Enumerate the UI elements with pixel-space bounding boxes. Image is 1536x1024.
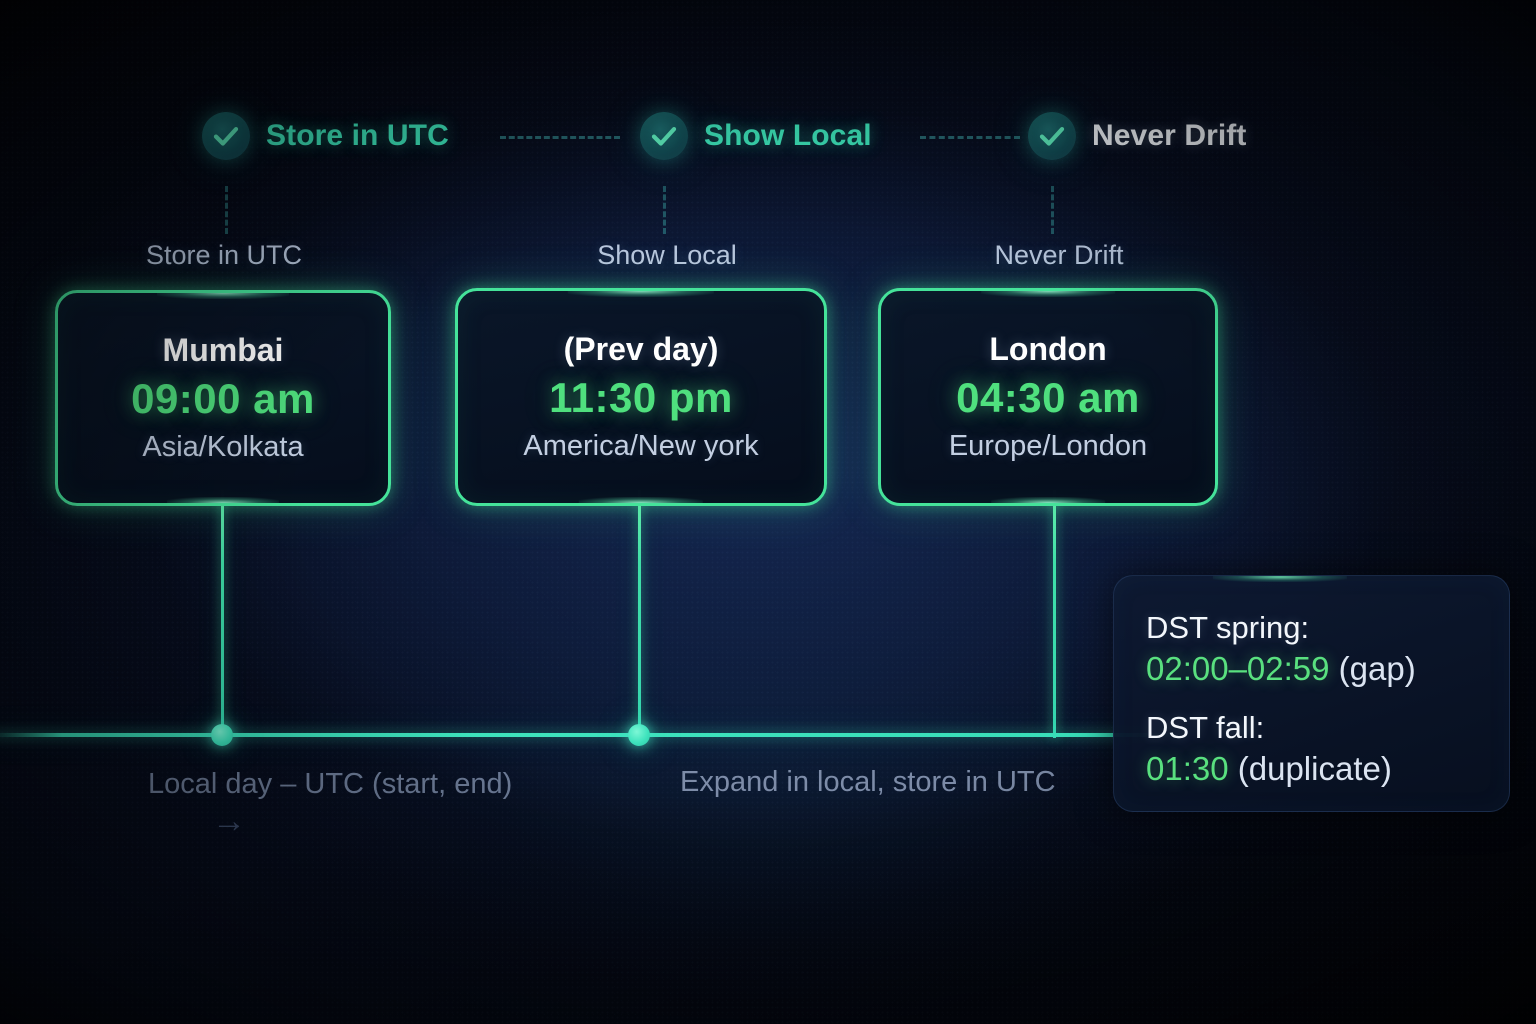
card-time: 09:00 am	[131, 375, 315, 423]
card-city: Mumbai	[163, 332, 284, 369]
sub-label-never-drift: Never Drift	[994, 240, 1123, 271]
dst-fall-note: (duplicate)	[1229, 750, 1392, 787]
dst-spring-range: 02:00–02:59	[1146, 650, 1330, 687]
timezone-card-new-york[interactable]: (Prev day) 11:30 pm America/New york	[455, 288, 827, 506]
card-timezone: Europe/London	[949, 430, 1147, 463]
step-store-in-utc[interactable]: Store in UTC	[202, 112, 449, 160]
step-connector-1-2	[500, 136, 620, 139]
step-drop-2	[663, 186, 666, 234]
timeline-drop-1	[221, 490, 224, 738]
timezone-card-london[interactable]: London 04:30 am Europe/London	[878, 288, 1218, 506]
timeline-drop-3	[1053, 490, 1056, 738]
step-connector-2-3	[920, 136, 1020, 139]
timeline-axis	[0, 733, 1190, 737]
dst-spring-title: DST spring:	[1146, 610, 1477, 646]
check-icon	[640, 112, 688, 160]
card-time: 11:30 pm	[549, 374, 733, 422]
check-icon	[1028, 112, 1076, 160]
card-timezone: America/New york	[523, 430, 758, 463]
timeline-drop-2	[638, 490, 641, 738]
dst-fall-value-row: 01:30 (duplicate)	[1146, 750, 1477, 788]
timeline-node-2[interactable]	[628, 724, 650, 746]
sub-label-show-local: Show Local	[597, 240, 737, 271]
step-never-drift[interactable]: Never Drift	[1028, 112, 1246, 160]
caption-local-day-utc: Local day – UTC (start, end)	[148, 768, 512, 801]
timezone-card-mumbai[interactable]: Mumbai 09:00 am Asia/Kolkata	[55, 290, 391, 506]
step-drop-3	[1051, 186, 1054, 234]
card-time: 04:30 am	[956, 374, 1140, 422]
check-icon	[202, 112, 250, 160]
dst-fall-time: 01:30	[1146, 750, 1229, 787]
card-city: (Prev day)	[564, 331, 719, 368]
caption-expand-local-store-utc: Expand in local, store in UTC	[680, 766, 1056, 799]
step-label: Show Local	[704, 119, 872, 153]
diagram-canvas: Store in UTC Show Local Never Drift Stor…	[0, 0, 1536, 1024]
dst-spring-note: (gap)	[1330, 650, 1416, 687]
card-city: London	[989, 331, 1106, 368]
card-timezone: Asia/Kolkata	[142, 431, 303, 464]
sub-label-store-in-utc: Store in UTC	[146, 240, 302, 271]
step-drop-1	[225, 186, 228, 234]
dst-info-panel: DST spring: 02:00–02:59 (gap) DST fall: …	[1113, 575, 1510, 812]
dst-fall-title: DST fall:	[1146, 710, 1477, 746]
arrow-right-icon: →	[212, 802, 246, 841]
timeline-node-1[interactable]	[211, 724, 233, 746]
step-show-local[interactable]: Show Local	[640, 112, 872, 160]
step-label: Never Drift	[1092, 119, 1246, 153]
dst-spring-value-row: 02:00–02:59 (gap)	[1146, 650, 1477, 688]
step-label: Store in UTC	[266, 119, 449, 153]
